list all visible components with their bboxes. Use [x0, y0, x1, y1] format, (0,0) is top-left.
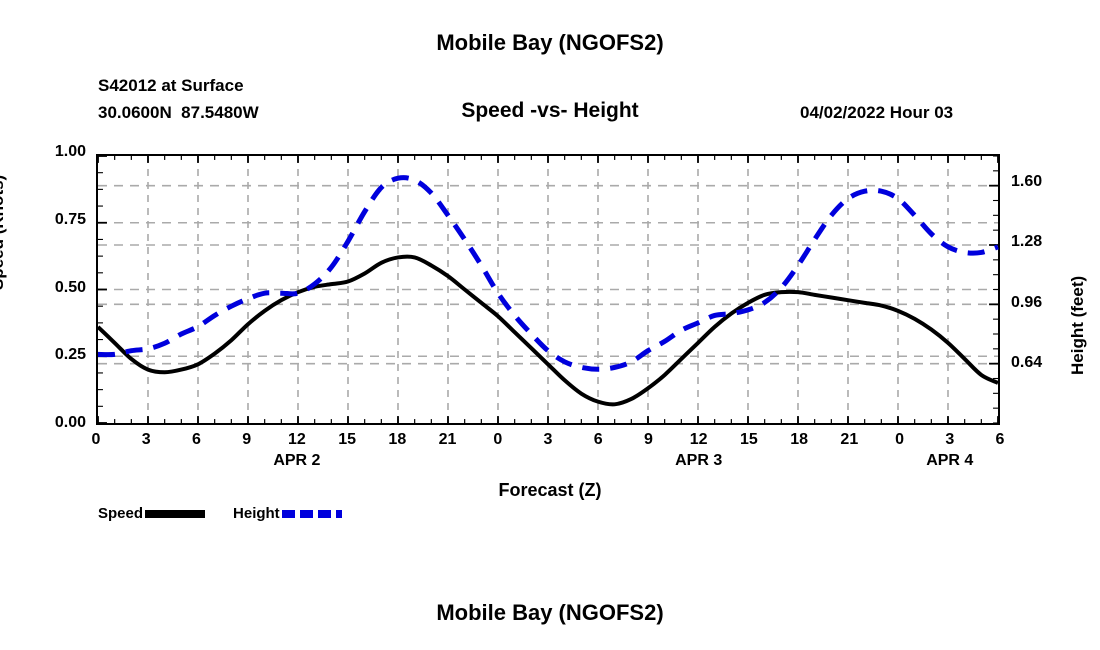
y-axis-left-tick: 0.75 — [24, 211, 86, 229]
y-axis-right-tick: 0.96 — [1011, 294, 1073, 312]
x-axis-tick: 6 — [996, 431, 1005, 449]
x-axis-tick: 21 — [439, 431, 457, 449]
plot-area — [96, 154, 1000, 425]
x-axis-tick: 15 — [740, 431, 758, 449]
y-axis-right-tick: 1.28 — [1011, 233, 1073, 251]
x-axis-day-label: APR 2 — [273, 452, 320, 470]
x-axis-tick: 0 — [895, 431, 904, 449]
x-axis-tick: 21 — [840, 431, 858, 449]
legend-label: Height — [233, 505, 280, 522]
y-axis-left-tick: 0.00 — [24, 414, 86, 432]
x-axis-tick: 12 — [690, 431, 708, 449]
legend-swatch-solid — [145, 510, 205, 518]
x-axis-tick: 0 — [493, 431, 502, 449]
x-axis-tick: 18 — [388, 431, 406, 449]
x-axis-tick: 6 — [192, 431, 201, 449]
page-title-bottom: Mobile Bay (NGOFS2) — [0, 600, 1100, 626]
series-line-speed — [98, 257, 998, 405]
x-axis-day-label: APR 4 — [926, 452, 973, 470]
x-axis-day-label: APR 3 — [675, 452, 722, 470]
y-axis-left-tick: 1.00 — [24, 143, 86, 161]
legend-swatch-dashed — [282, 510, 342, 518]
x-axis-tick: 9 — [644, 431, 653, 449]
x-axis-tick: 3 — [544, 431, 553, 449]
x-axis-tick: 18 — [790, 431, 808, 449]
x-axis-tick: 9 — [242, 431, 251, 449]
y-axis-right-tick: 1.60 — [1011, 173, 1073, 191]
page-title-top: Mobile Bay (NGOFS2) — [0, 30, 1100, 56]
x-axis-tick: 15 — [338, 431, 356, 449]
chart-legend: SpeedHeight — [98, 505, 370, 522]
data-series — [98, 156, 998, 423]
x-axis-tick: 0 — [92, 431, 101, 449]
y-axis-left-tick: 0.25 — [24, 346, 86, 364]
x-axis-tick: 12 — [288, 431, 306, 449]
x-axis-tick: 6 — [594, 431, 603, 449]
x-axis-tick: 3 — [945, 431, 954, 449]
y-axis-left-tick: 0.50 — [24, 279, 86, 297]
legend-item-height: Height — [233, 505, 370, 522]
forecast-date-label: 04/02/2022 Hour 03 — [800, 103, 953, 123]
legend-item-speed: Speed — [98, 505, 233, 522]
y-axis-right-tick: 0.64 — [1011, 354, 1073, 372]
x-axis-title: Forecast (Z) — [0, 480, 1100, 501]
x-axis-tick: 3 — [142, 431, 151, 449]
station-label: S42012 at Surface — [98, 76, 244, 96]
chart-page: Mobile Bay (NGOFS2) S42012 at Surface 30… — [0, 0, 1100, 650]
y-axis-left-title: Speed (Knots) — [0, 175, 8, 290]
legend-label: Speed — [98, 505, 143, 522]
